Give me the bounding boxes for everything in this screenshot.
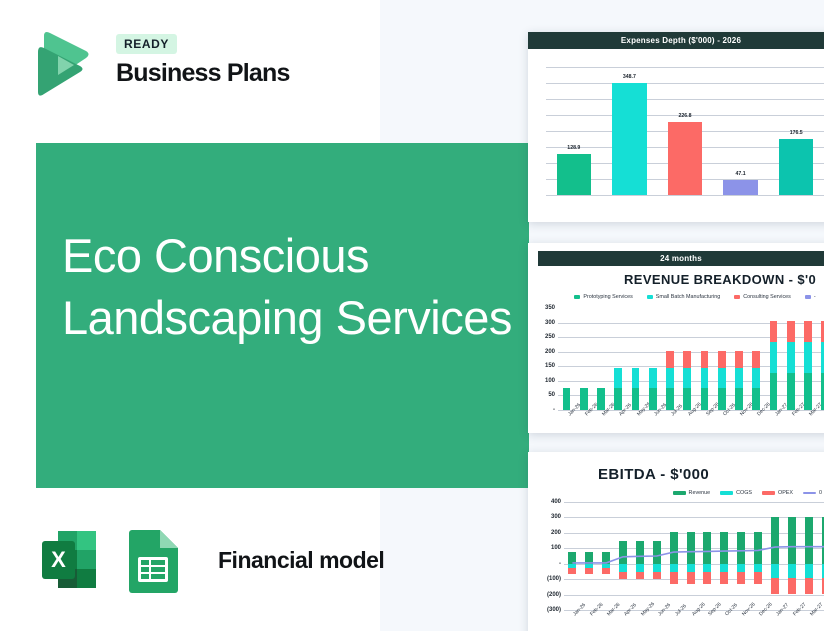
- chart-card-revenue[interactable]: 24 months REVENUE BREAKDOWN - $'0 Protot…: [528, 243, 824, 433]
- brand-text-block: READY Business Plans: [116, 34, 290, 88]
- stacked-bar-segment: [649, 388, 657, 410]
- stacked-bar-segment: [619, 564, 627, 572]
- stacked-bar-segment: [683, 368, 691, 388]
- google-sheets-icon: [122, 524, 186, 596]
- stacked-bar-segment: [614, 388, 622, 410]
- bar-value-label: 176.5: [790, 130, 803, 136]
- stacked-bar-segment: [771, 564, 779, 579]
- gridline: [558, 337, 824, 338]
- stacked-bar-segment: [568, 568, 576, 574]
- gridline: [546, 83, 824, 84]
- bar: [557, 154, 591, 195]
- stacked-bar-segment: [653, 541, 661, 563]
- gridline: [546, 195, 824, 196]
- stacked-bar-segment: [770, 321, 778, 342]
- stacked-bar-segment: [804, 373, 812, 410]
- legend-item: Revenue: [673, 490, 711, 496]
- y-axis-tick: 400: [551, 499, 561, 505]
- play-triangle-logo-icon: [28, 30, 96, 98]
- stacked-bar-segment: [585, 568, 593, 574]
- stacked-bar-segment: [720, 564, 728, 572]
- stacked-bar-segment: [754, 572, 762, 584]
- stacked-bar-segment: [770, 373, 778, 410]
- chart-expenses-title: Expenses Depth ($'000) - 2026: [528, 32, 824, 49]
- stacked-bar-segment: [735, 351, 743, 368]
- gridline: [564, 595, 824, 596]
- stacked-bar-segment: [632, 388, 640, 410]
- chart-card-expenses[interactable]: Expenses Depth ($'000) - 2026 128.9348.7…: [528, 32, 824, 222]
- bar-value-label: 47.1: [736, 171, 746, 177]
- y-axis-tick: (300): [547, 607, 561, 613]
- stacked-bar-segment: [788, 564, 796, 579]
- stacked-bar-segment: [666, 388, 674, 410]
- legend-label: OPEX: [778, 490, 793, 496]
- stacked-bar-segment: [687, 572, 695, 584]
- y-axis-tick: -: [553, 407, 555, 413]
- footer-label: Financial model: [218, 547, 384, 574]
- bar-value-label: 128.9: [567, 145, 580, 151]
- bar: [723, 180, 757, 195]
- stacked-bar-segment: [788, 517, 796, 564]
- legend-label: Consulting Services: [743, 294, 791, 300]
- legend-label: Revenue: [689, 490, 711, 496]
- y-axis-tick: 200: [545, 349, 555, 355]
- stacked-bar-segment: [754, 564, 762, 572]
- stacked-bar-segment: [787, 342, 795, 373]
- chart-card-ebitda[interactable]: EBITDA - $'000 RevenueCOGSOPEX0 40030020…: [528, 452, 824, 631]
- y-axis-tick: -: [559, 561, 561, 567]
- y-axis-tick: 50: [548, 392, 555, 398]
- stacked-bar-segment: [805, 564, 813, 579]
- stacked-bar-segment: [670, 564, 678, 572]
- legend-line-icon: [803, 492, 816, 494]
- legend-swatch-icon: [805, 295, 811, 299]
- y-axis-tick: 350: [545, 305, 555, 311]
- stacked-bar-segment: [754, 532, 762, 564]
- stacked-bar-segment: [636, 541, 644, 563]
- stacked-bar-segment: [683, 388, 691, 410]
- stacked-bar-segment: [653, 572, 661, 579]
- stacked-bar-segment: [703, 572, 711, 584]
- stacked-bar-segment: [602, 568, 610, 574]
- y-axis-tick: 300: [545, 320, 555, 326]
- stacked-bar-segment: [703, 564, 711, 572]
- chart-ebitda-plot: 400300200100-(100)(200)(300)Jan-26Feb-26…: [564, 502, 824, 610]
- stacked-bar-segment: [805, 517, 813, 564]
- bar-value-label: 226.8: [679, 113, 692, 119]
- legend-item: OPEX: [762, 490, 793, 496]
- stacked-bar-segment: [636, 564, 644, 572]
- stacked-bar-segment: [568, 552, 576, 564]
- stacked-bar-segment: [602, 552, 610, 564]
- chart-revenue-header: 24 months: [538, 251, 824, 266]
- stacked-bar-segment: [649, 368, 657, 388]
- stacked-bar-segment: [788, 578, 796, 593]
- stacked-bar-segment: [632, 368, 640, 388]
- stacked-bar-segment: [701, 368, 709, 388]
- stacked-bar-segment: [771, 578, 779, 593]
- chart-expenses-plot: 128.9348.7226.847.1176.5: [546, 67, 824, 195]
- stacked-bar-segment: [720, 532, 728, 564]
- stacked-bar-segment: [687, 532, 695, 564]
- chart-revenue-plot: 35030025020015010050-Jan-26Feb-26Mar-26A…: [558, 308, 824, 410]
- footer-formats: X Financial model: [36, 522, 384, 598]
- y-axis-tick: 250: [545, 334, 555, 340]
- ready-badge: READY: [116, 34, 177, 54]
- brand-name: Business Plans: [116, 59, 290, 88]
- stacked-bar-segment: [666, 351, 674, 368]
- legend-swatch-icon: [647, 295, 653, 299]
- legend-swatch-icon: [734, 295, 740, 299]
- stacked-bar-segment: [687, 564, 695, 572]
- legend-label: Small Batch Manufacturing: [656, 294, 720, 300]
- stacked-bar-segment: [563, 388, 571, 410]
- chart-revenue-legend: Prototyping ServicesSmall Batch Manufact…: [528, 294, 824, 300]
- stacked-bar-segment: [718, 351, 726, 368]
- chart-ebitda-legend: RevenueCOGSOPEX0: [528, 490, 824, 496]
- stacked-bar-segment: [580, 388, 588, 410]
- stacked-bar-segment: [737, 572, 745, 584]
- stacked-bar-segment: [701, 351, 709, 368]
- stacked-bar-segment: [720, 572, 728, 584]
- legend-label: 0: [819, 490, 822, 496]
- legend-swatch-icon: [574, 295, 580, 299]
- stacked-bar-segment: [752, 388, 760, 410]
- bar: [779, 139, 813, 195]
- stacked-bar-segment: [805, 578, 813, 593]
- stacked-bar-segment: [787, 373, 795, 410]
- legend-item: 0: [803, 490, 822, 496]
- bar: [668, 122, 702, 195]
- bar: [612, 83, 646, 195]
- chart-ebitda-title: EBITDA - $'000: [528, 466, 824, 483]
- legend-item: Small Batch Manufacturing: [647, 294, 720, 300]
- stacked-bar-segment: [737, 564, 745, 572]
- legend-swatch-icon: [720, 491, 733, 495]
- stacked-bar-segment: [670, 532, 678, 564]
- gridline: [546, 67, 824, 68]
- legend-item: -: [805, 294, 816, 300]
- stacked-bar-segment: [804, 321, 812, 342]
- microsoft-excel-icon: X: [36, 524, 108, 596]
- stacked-bar-segment: [752, 368, 760, 388]
- stacked-bar-segment: [683, 351, 691, 368]
- legend-label: COGS: [736, 490, 752, 496]
- slide-canvas: READY Business Plans Eco Conscious Lands…: [0, 0, 824, 631]
- stacked-bar-segment: [737, 532, 745, 564]
- legend-label: -: [814, 294, 816, 300]
- brand-logo: READY Business Plans: [28, 28, 328, 102]
- stacked-bar-segment: [804, 342, 812, 373]
- legend-swatch-icon: [673, 491, 686, 495]
- stacked-bar-segment: [703, 532, 711, 564]
- stacked-bar-segment: [585, 552, 593, 564]
- stacked-bar-segment: [787, 321, 795, 342]
- y-axis-tick: (200): [547, 592, 561, 598]
- gridline: [546, 99, 824, 100]
- stacked-bar-segment: [771, 517, 779, 564]
- stacked-bar-segment: [597, 388, 605, 410]
- stacked-bar-segment: [701, 388, 709, 410]
- legend-item: Prototyping Services: [574, 294, 632, 300]
- y-axis-tick: 300: [551, 514, 561, 520]
- stacked-bar-segment: [718, 388, 726, 410]
- stacked-bar-segment: [619, 572, 627, 579]
- svg-text:X: X: [51, 547, 66, 572]
- legend-item: Consulting Services: [734, 294, 791, 300]
- stacked-bar-segment: [636, 572, 644, 579]
- chart-revenue-title: REVENUE BREAKDOWN - $'0: [528, 272, 824, 287]
- legend-swatch-icon: [762, 491, 775, 495]
- stacked-bar-segment: [718, 368, 726, 388]
- y-axis-tick: 200: [551, 530, 561, 536]
- stacked-bar-segment: [752, 351, 760, 368]
- y-axis-tick: 150: [545, 363, 555, 369]
- stacked-bar-segment: [735, 388, 743, 410]
- stacked-bar-segment: [735, 368, 743, 388]
- gridline: [564, 517, 824, 518]
- gridline: [564, 502, 824, 503]
- legend-label: Prototyping Services: [583, 294, 632, 300]
- page-title: Eco Conscious Landscaping Services: [62, 225, 532, 349]
- y-axis-tick: 100: [551, 545, 561, 551]
- stacked-bar-segment: [666, 368, 674, 388]
- legend-item: COGS: [720, 490, 752, 496]
- stacked-bar-segment: [653, 564, 661, 572]
- stacked-bar-segment: [770, 342, 778, 373]
- bar-value-label: 348.7: [623, 74, 636, 80]
- stacked-bar-segment: [670, 572, 678, 584]
- stacked-bar-segment: [619, 541, 627, 563]
- gridline: [558, 323, 824, 324]
- stacked-bar-segment: [614, 368, 622, 388]
- y-axis-tick: 100: [545, 378, 555, 384]
- y-axis-tick: (100): [547, 576, 561, 582]
